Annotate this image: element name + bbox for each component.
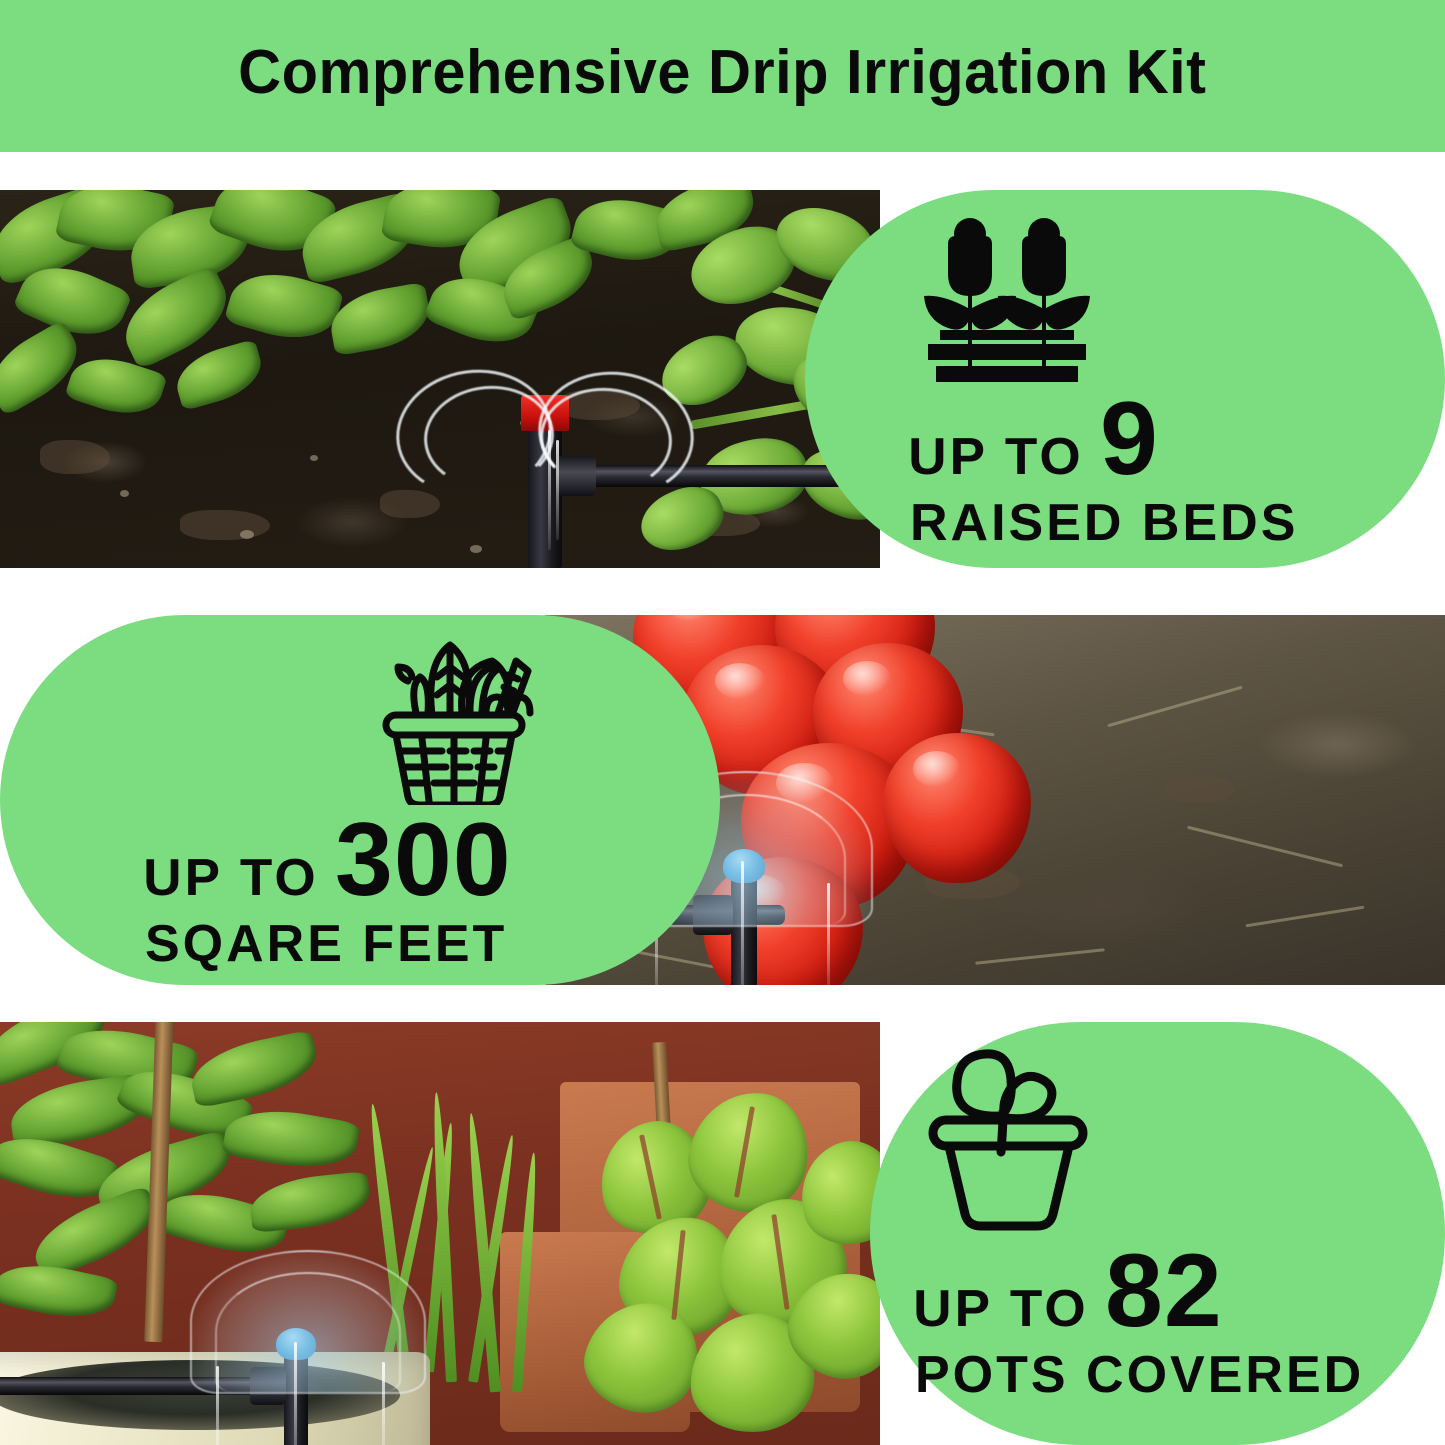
stat-value: 82 bbox=[1105, 1242, 1223, 1341]
stat-line-primary: UP TO 300 bbox=[145, 811, 512, 910]
page-title: Comprehensive Drip Irrigation Kit bbox=[238, 42, 1206, 110]
stat-line-primary: UP TO 9 bbox=[910, 390, 1159, 489]
feature-row-square-feet: UP TO 300 SQARE FEET bbox=[0, 615, 1445, 985]
raised-bed-herbs-drip-emitter-photo bbox=[0, 190, 880, 568]
stat-prefix: UP TO bbox=[143, 854, 318, 903]
stat-line-primary: UP TO 82 bbox=[915, 1242, 1223, 1341]
stat-prefix: UP TO bbox=[908, 433, 1083, 482]
photo-artwork bbox=[0, 190, 880, 568]
stat-value: 300 bbox=[335, 811, 512, 910]
patio-pots-drip-emitter-photo bbox=[0, 1022, 880, 1445]
stat-value: 9 bbox=[1100, 390, 1159, 489]
stat-block-raised-beds: UP TO 9 RAISED BEDS bbox=[910, 212, 1298, 549]
stat-unit: RAISED BEDS bbox=[910, 497, 1298, 549]
stat-block-square-feet: UP TO 300 SQARE FEET bbox=[135, 633, 538, 970]
vegetable-basket-icon bbox=[370, 633, 538, 805]
header-banner: Comprehensive Drip Irrigation Kit bbox=[0, 0, 1445, 152]
tulips-in-planter-icon bbox=[922, 212, 1092, 384]
stat-unit: POTS COVERED bbox=[915, 1349, 1364, 1401]
potted-plant-icon bbox=[923, 1044, 1095, 1236]
stat-prefix: UP TO bbox=[913, 1285, 1088, 1334]
feature-row-raised-beds: UP TO 9 RAISED BEDS bbox=[0, 190, 1445, 568]
stat-unit: SQARE FEET bbox=[145, 918, 507, 970]
feature-row-pots-covered: UP TO 82 POTS COVERED bbox=[0, 1022, 1445, 1445]
stat-block-pots-covered: UP TO 82 POTS COVERED bbox=[915, 1044, 1364, 1401]
photo-artwork bbox=[0, 1022, 880, 1445]
